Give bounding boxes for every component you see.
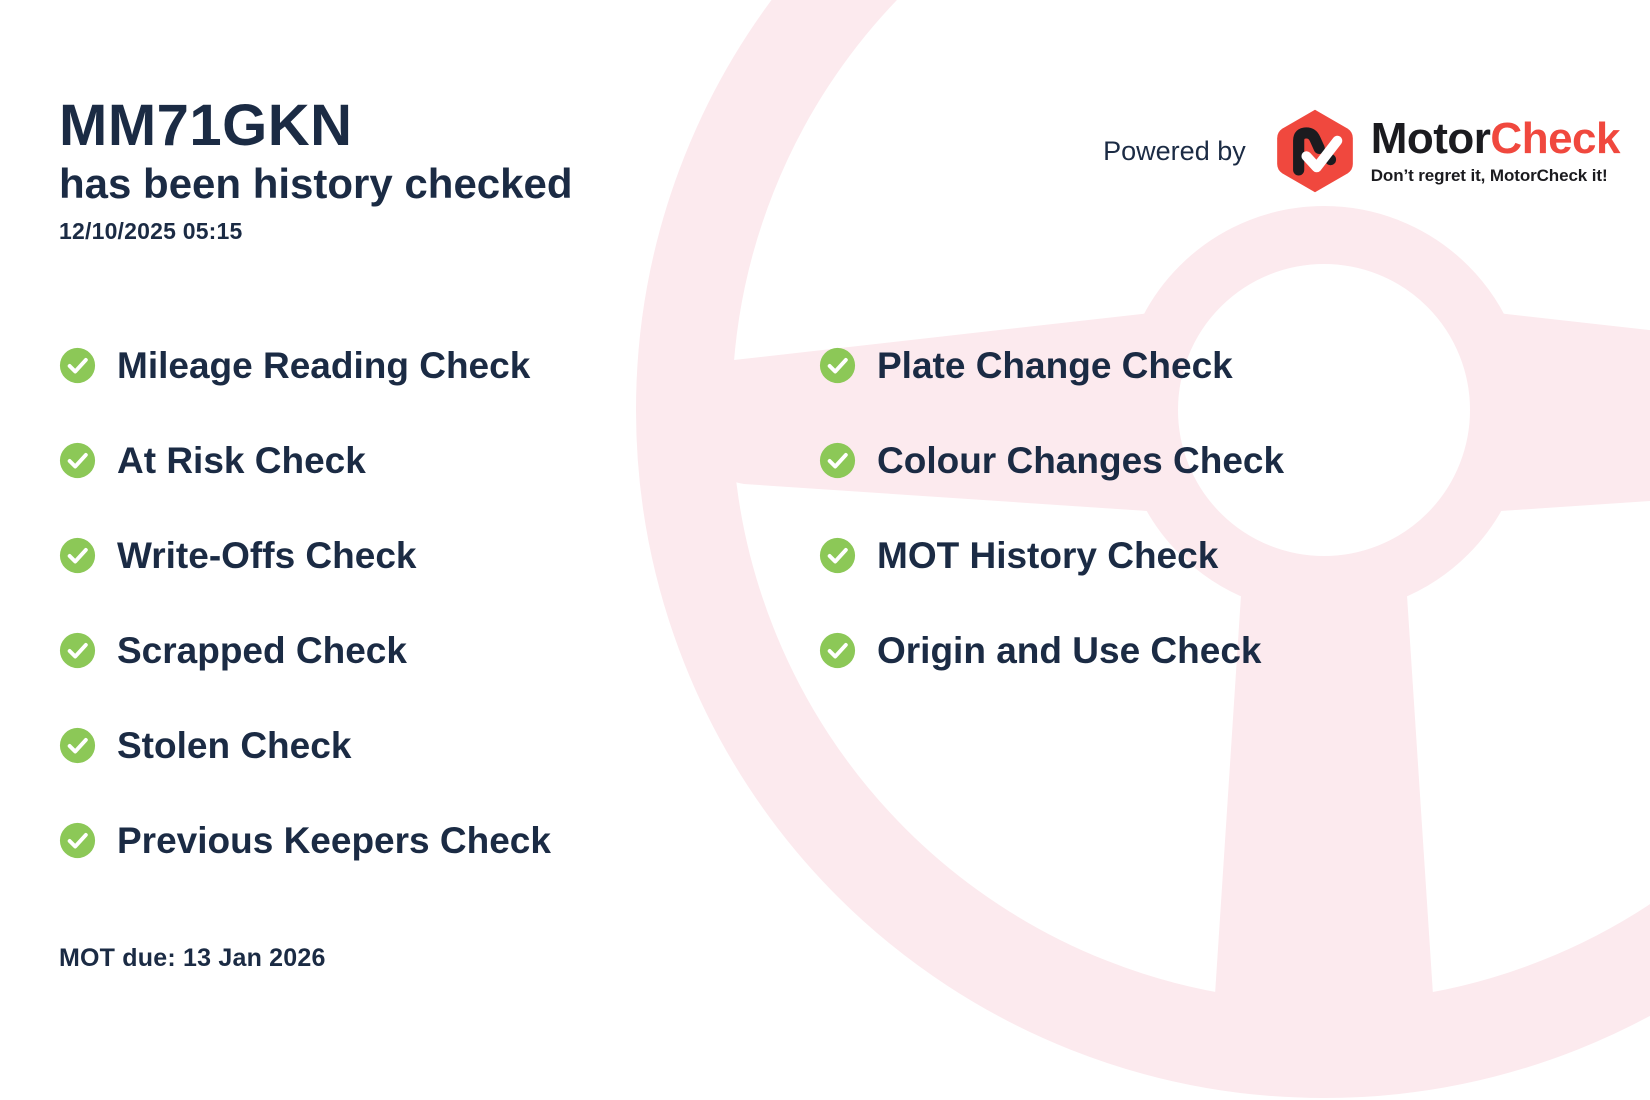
motorcheck-hexagon-icon: [1272, 108, 1358, 194]
check-label: Previous Keepers Check: [117, 822, 551, 859]
mot-due-text: MOT due: 13 Jan 2026: [59, 944, 326, 973]
check-item-colour-changes[interactable]: Colour Changes Check: [819, 413, 1579, 508]
check-label: Colour Changes Check: [877, 442, 1284, 479]
green-check-circle-icon: [59, 442, 96, 479]
check-label: Stolen Check: [117, 727, 351, 764]
green-check-circle-icon: [59, 632, 96, 669]
check-item-previous-keepers[interactable]: Previous Keepers Check: [59, 793, 819, 888]
vehicle-history-check-card: MM71GKN has been history checked 12/10/2…: [0, 0, 1650, 1100]
page-subtitle: has been history checked: [59, 160, 573, 207]
check-item-at-risk[interactable]: At Risk Check: [59, 413, 819, 508]
checks-column-left: Mileage Reading Check At Risk Check Writ…: [59, 318, 819, 888]
check-item-mot-history[interactable]: MOT History Check: [819, 508, 1579, 603]
check-item-plate-change[interactable]: Plate Change Check: [819, 318, 1579, 413]
check-label: Plate Change Check: [877, 347, 1233, 384]
green-check-circle-icon: [819, 632, 856, 669]
motorcheck-tagline: Don’t regret it, MotorCheck it!: [1371, 166, 1620, 186]
green-check-circle-icon: [819, 347, 856, 384]
motorcheck-logo[interactable]: MotorCheck Don’t regret it, MotorCheck i…: [1272, 108, 1620, 194]
motorcheck-wordmark-block: MotorCheck Don’t regret it, MotorCheck i…: [1371, 117, 1620, 186]
wordmark-check: Check: [1490, 114, 1620, 163]
check-label: Scrapped Check: [117, 632, 407, 669]
checks-grid: Mileage Reading Check At Risk Check Writ…: [59, 318, 1599, 888]
checks-column-right: Plate Change Check Colour Changes Check …: [819, 318, 1579, 888]
check-item-origin-and-use[interactable]: Origin and Use Check: [819, 603, 1579, 698]
check-item-scrapped[interactable]: Scrapped Check: [59, 603, 819, 698]
check-item-stolen[interactable]: Stolen Check: [59, 698, 819, 793]
vehicle-registration-plate: MM71GKN: [59, 96, 573, 156]
green-check-circle-icon: [59, 822, 96, 859]
powered-by-label: Powered by: [1103, 136, 1246, 167]
green-check-circle-icon: [59, 727, 96, 764]
motorcheck-wordmark: MotorCheck: [1371, 117, 1620, 161]
green-check-circle-icon: [59, 347, 96, 384]
check-label: Mileage Reading Check: [117, 347, 530, 384]
check-label: Write-Offs Check: [117, 537, 417, 574]
green-check-circle-icon: [819, 442, 856, 479]
check-item-mileage-reading[interactable]: Mileage Reading Check: [59, 318, 819, 413]
check-item-write-offs[interactable]: Write-Offs Check: [59, 508, 819, 603]
header-left: MM71GKN has been history checked 12/10/2…: [59, 96, 573, 245]
check-label: Origin and Use Check: [877, 632, 1262, 669]
wordmark-motor: Motor: [1371, 114, 1491, 163]
powered-by-branding: Powered by MotorCheck Don’t regret it, M…: [1103, 108, 1620, 194]
check-label: At Risk Check: [117, 442, 366, 479]
check-label: MOT History Check: [877, 537, 1218, 574]
check-timestamp: 12/10/2025 05:15: [59, 218, 573, 245]
green-check-circle-icon: [819, 537, 856, 574]
green-check-circle-icon: [59, 537, 96, 574]
